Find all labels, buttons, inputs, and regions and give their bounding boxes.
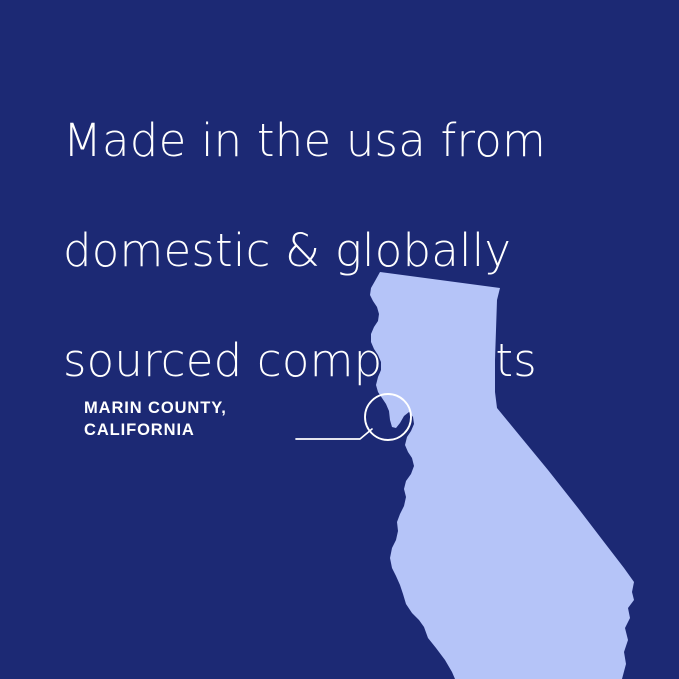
callout-label-line-2: CALIFORNIA — [84, 419, 227, 441]
callout-label: MARIN COUNTY, CALIFORNIA — [84, 397, 227, 441]
callout-label-line-1: MARIN COUNTY, — [84, 397, 227, 419]
california-state-shape — [370, 272, 634, 679]
california-map — [0, 0, 679, 679]
marketing-graphic-canvas: Made in the usa from domestic & globally… — [0, 0, 679, 679]
california-map-svg — [0, 0, 679, 679]
callout-leader-line — [296, 429, 372, 439]
